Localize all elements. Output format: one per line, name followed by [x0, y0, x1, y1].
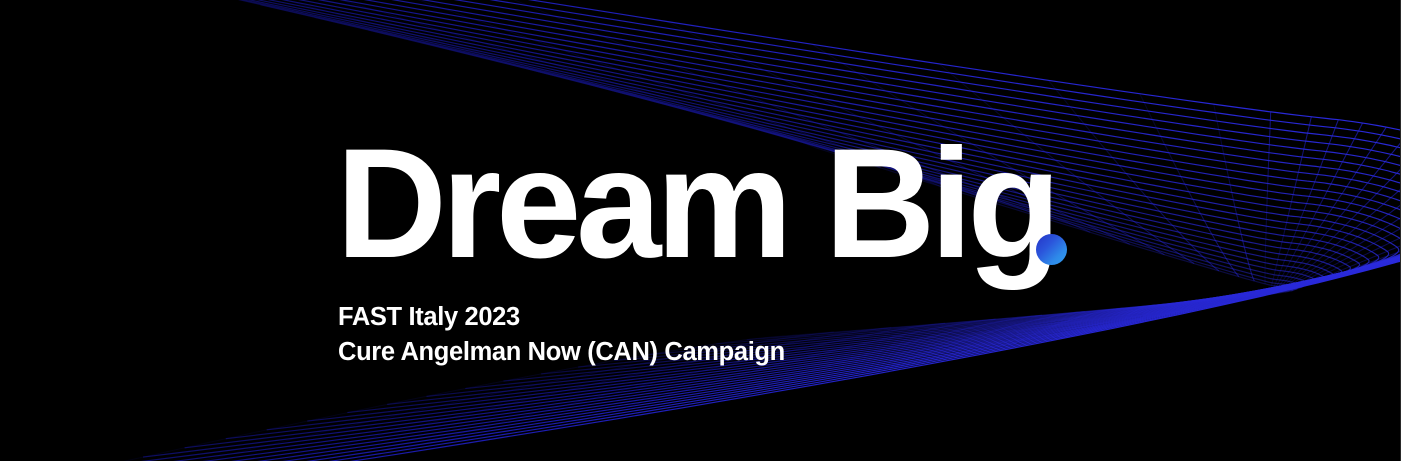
- subtitle-line-campaign: Cure Angelman Now (CAN) Campaign: [338, 335, 785, 370]
- page-title: Dream Big: [336, 126, 1056, 282]
- period-dot: [1036, 234, 1067, 265]
- dream-big-banner: Dream Big FAST Italy 2023 Cure Angelman …: [0, 0, 1401, 461]
- subtitle-block: FAST Italy 2023 Cure Angelman Now (CAN) …: [338, 300, 785, 370]
- headline-row: Dream Big: [336, 126, 1067, 282]
- subtitle-line-event: FAST Italy 2023: [338, 300, 785, 335]
